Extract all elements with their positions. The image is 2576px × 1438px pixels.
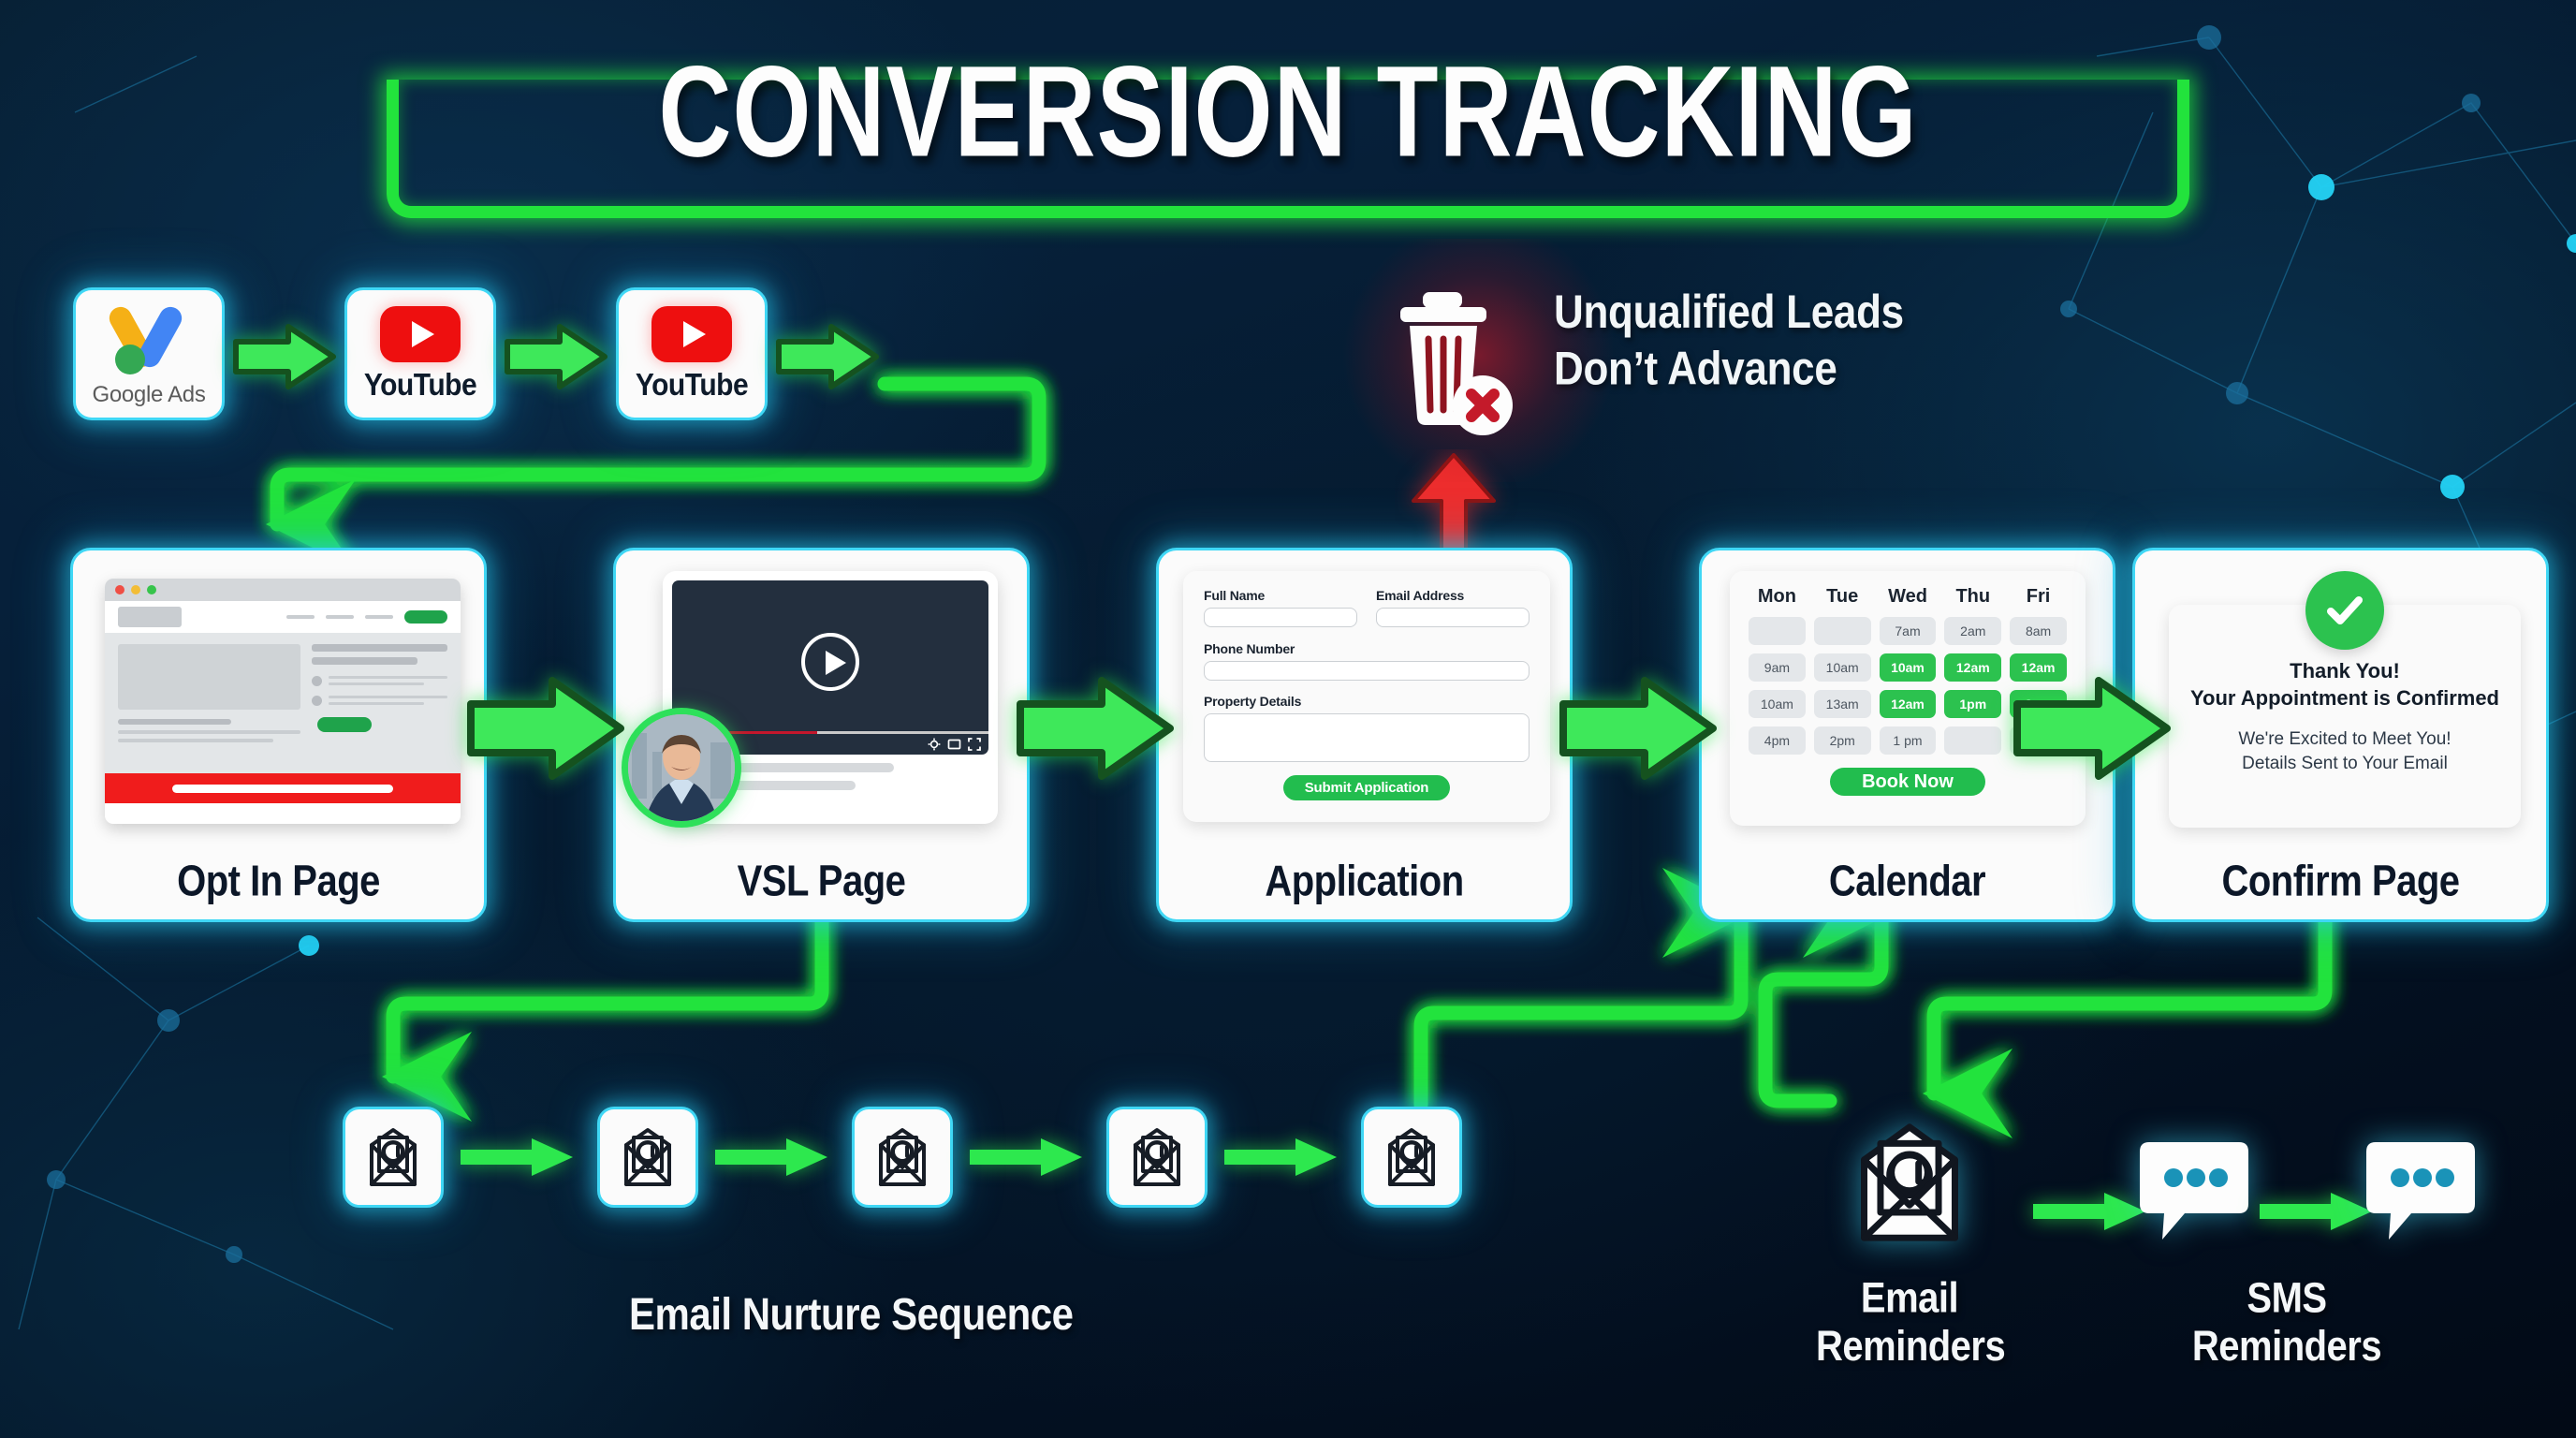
browser-mockup: [105, 579, 461, 824]
confirm-body-line2: Details Sent to Your Email: [2238, 752, 2451, 776]
submit-application-button[interactable]: Submit Application: [1283, 775, 1450, 800]
time-slot-selected[interactable]: 12am: [1880, 690, 1937, 718]
email-reminders-line2: Reminders: [1816, 1323, 2003, 1371]
open-envelope-at-icon: [359, 1126, 428, 1188]
sms-reminders-line1: SMS: [2170, 1275, 2404, 1323]
confirm-heading-line1: Thank You!: [2190, 657, 2499, 684]
calendar-day-mon: Mon: [1749, 586, 1806, 608]
field-label-full-name: Full Name: [1204, 588, 1357, 603]
calendar-day-wed: Wed: [1880, 586, 1937, 608]
field-label-phone-number: Phone Number: [1204, 641, 1529, 656]
page-title: CONVERSION TRACKING: [0, 17, 2576, 143]
arrow-calendar-to-confirm: [2012, 676, 2172, 781]
open-envelope-at-icon: [613, 1126, 682, 1188]
sms-reminders-line2: Reminders: [2170, 1323, 2404, 1371]
sms-bubble-icon-2: [2363, 1138, 2479, 1248]
nav-link-placeholder: [286, 615, 315, 619]
email-sequence-item-1[interactable]: [343, 1107, 444, 1208]
source-label-youtube-1: YouTube: [364, 368, 476, 404]
source-card-google-ads[interactable]: Google Ads: [73, 287, 225, 420]
arrow-email-4-5: [1222, 1137, 1339, 1178]
text-placeholder: [118, 739, 273, 742]
time-slot[interactable]: [1944, 726, 2001, 755]
email-sequence-item-3[interactable]: [852, 1107, 953, 1208]
email-reminders-icon: [1842, 1123, 1977, 1248]
funnel-card-confirm-page[interactable]: Thank You! Your Appointment is Confirmed…: [2132, 548, 2549, 922]
optin-cta-button[interactable]: [317, 717, 372, 732]
time-slot[interactable]: 10am: [1814, 653, 1871, 682]
field-input-email-address[interactable]: [1376, 608, 1529, 627]
source-card-youtube-1[interactable]: YouTube: [344, 287, 496, 420]
time-slot[interactable]: 8am: [2010, 617, 2067, 645]
calendar-day-fri: Fri: [2010, 586, 2067, 608]
time-slot[interactable]: 2pm: [1814, 726, 1871, 755]
funnel-label-opt-in-page: Opt In Page: [73, 858, 484, 906]
arrow-vsl-to-application: [1016, 676, 1175, 781]
time-slot[interactable]: [1749, 617, 1806, 645]
time-slot[interactable]: 10am: [1749, 690, 1806, 718]
arrow-optin-to-vsl: [466, 676, 625, 781]
arrow-youtube-to-funnel: [775, 323, 880, 390]
funnel-label-calendar: Calendar: [1702, 858, 2113, 906]
miniplayer-icon[interactable]: [947, 738, 961, 751]
browser-footer-bar: [105, 773, 461, 803]
open-envelope-at-icon: [1122, 1126, 1192, 1188]
arrow-youtube-to-youtube: [504, 323, 608, 390]
hero-image-placeholder: [118, 644, 300, 710]
bullet-dot: [312, 676, 322, 686]
bullet-dot: [312, 696, 322, 706]
youtube-logo-icon: [380, 306, 461, 362]
unqualified-line-1: Unqualified Leads: [1554, 286, 1904, 342]
arrow-email-3-4: [968, 1137, 1084, 1178]
time-slot[interactable]: [1814, 617, 1871, 645]
confirm-heading: Thank You! Your Appointment is Confirmed: [2190, 657, 2499, 712]
funnel-label-vsl-page: VSL Page: [616, 858, 1027, 906]
application-form[interactable]: Full Name Email Address Phone Number Pro…: [1183, 571, 1550, 822]
arrow-email-1-2: [459, 1137, 575, 1178]
arrow-application-to-calendar: [1559, 676, 1718, 781]
funnel-card-vsl-page[interactable]: VSL Page: [613, 548, 1030, 922]
window-close-dot: [115, 585, 124, 594]
email-reminders-label: Email Reminders: [1816, 1275, 2003, 1371]
email-sequence-item-4[interactable]: [1106, 1107, 1207, 1208]
time-slot[interactable]: 9am: [1749, 653, 1806, 682]
time-slot-selected[interactable]: 10am: [1880, 653, 1937, 682]
calendar-day-thu: Thu: [1944, 586, 2001, 608]
gear-icon[interactable]: [928, 738, 941, 751]
arrow-google-to-youtube: [232, 323, 337, 390]
nav-cta-button[interactable]: [404, 610, 447, 624]
avatar: [622, 708, 741, 828]
arrow-email-to-sms: [2031, 1191, 2147, 1232]
time-slot-selected[interactable]: 12am: [1944, 653, 2001, 682]
open-envelope-at-icon: [868, 1126, 937, 1188]
field-label-email-address: Email Address: [1376, 588, 1529, 603]
source-label-google-ads: Google Ads: [92, 382, 205, 408]
youtube-logo-icon: [651, 306, 732, 362]
time-slot[interactable]: 1 pm: [1880, 726, 1937, 755]
email-sequence-label: Email Nurture Sequence: [629, 1289, 1073, 1341]
side-heading-placeholder: [312, 644, 447, 652]
browser-navbar: [105, 601, 461, 633]
unqualified-leads-text: Unqualified Leads Don’t Advance: [1554, 286, 1904, 398]
email-sequence-item-5[interactable]: [1361, 1107, 1462, 1208]
funnel-card-opt-in-page[interactable]: Opt In Page: [70, 548, 487, 922]
confirm-body: We're Excited to Meet You! Details Sent …: [2238, 727, 2451, 775]
page-title-text: CONVERSION TRACKING: [0, 17, 2576, 179]
email-sequence-item-2[interactable]: [597, 1107, 698, 1208]
confirmation-panel: Thank You! Your Appointment is Confirmed…: [2169, 605, 2521, 828]
play-icon[interactable]: [801, 633, 859, 691]
window-minimize-dot: [131, 585, 140, 594]
source-card-youtube-2[interactable]: YouTube: [616, 287, 768, 420]
infographic-canvas: CONVERSION TRACKING: [0, 0, 2576, 1438]
calendar-day-tue: Tue: [1814, 586, 1871, 608]
nav-link-placeholder: [365, 615, 393, 619]
time-slot[interactable]: 4pm: [1749, 726, 1806, 755]
fullscreen-icon[interactable]: [968, 738, 981, 751]
time-slot[interactable]: 2am: [1944, 617, 2001, 645]
check-circle-icon: [2305, 571, 2384, 650]
unqualified-line-2: Don’t Advance: [1554, 342, 1904, 398]
field-label-property-details: Property Details: [1204, 694, 1529, 709]
video-controls[interactable]: [928, 738, 981, 751]
arrow-email-2-3: [713, 1137, 829, 1178]
browser-content: [105, 633, 461, 773]
trash-with-x-icon: [1383, 281, 1552, 440]
time-slot[interactable]: 13am: [1814, 690, 1871, 718]
open-envelope-at-icon: [1377, 1126, 1446, 1188]
email-reminders-line1: Email: [1816, 1275, 2003, 1323]
source-label-youtube-2: YouTube: [636, 368, 748, 404]
arrow-sms-1-2: [2258, 1191, 2374, 1232]
funnel-label-confirm-page: Confirm Page: [2135, 858, 2546, 906]
field-input-phone-number[interactable]: [1204, 661, 1529, 681]
field-input-property-details[interactable]: [1204, 713, 1529, 762]
window-maximize-dot: [147, 585, 156, 594]
nav-link-placeholder: [326, 615, 354, 619]
logo-placeholder: [118, 607, 182, 627]
confirm-body-line1: We're Excited to Meet You!: [2238, 727, 2451, 752]
time-slot[interactable]: 7am: [1880, 617, 1937, 645]
heading-placeholder: [118, 719, 231, 725]
funnel-label-application: Application: [1159, 858, 1570, 906]
google-ads-logo-icon: [108, 300, 190, 374]
browser-titlebar: [105, 579, 461, 601]
side-heading-placeholder: [312, 657, 417, 665]
calendar-day-headers: Mon Tue Wed Thu Fri: [1749, 586, 2067, 608]
funnel-card-application[interactable]: Full Name Email Address Phone Number Pro…: [1156, 548, 1573, 922]
book-now-button[interactable]: Book Now: [1830, 768, 1985, 796]
sms-bubble-icon-1: [2136, 1138, 2252, 1248]
time-slot-selected[interactable]: 1pm: [1944, 690, 2001, 718]
confirm-heading-line2: Your Appointment is Confirmed: [2190, 684, 2499, 712]
field-input-full-name[interactable]: [1204, 608, 1357, 627]
text-placeholder: [118, 730, 300, 734]
sms-reminders-label: SMS Reminders: [2170, 1275, 2404, 1371]
